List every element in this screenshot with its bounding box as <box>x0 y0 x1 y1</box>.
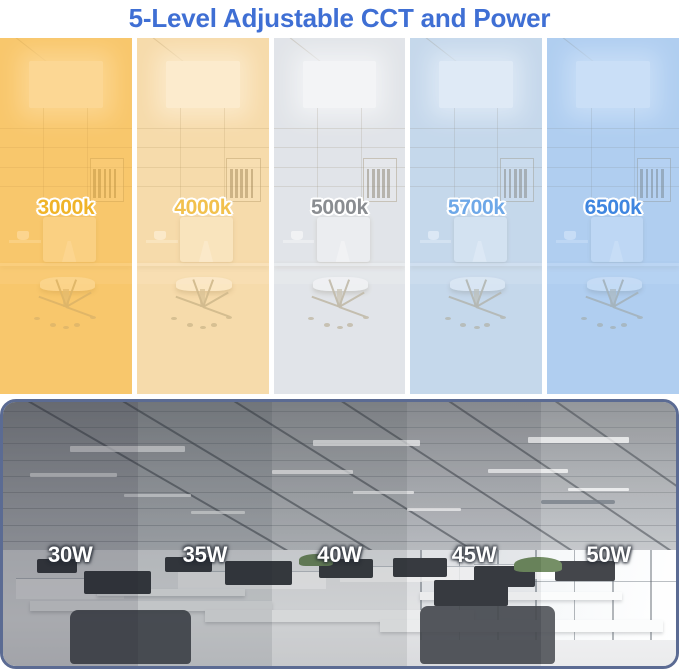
power-label-40w: 40W <box>272 542 407 568</box>
power-label-30w: 30W <box>3 542 138 568</box>
led-panel-light <box>576 61 650 108</box>
wall-shelf <box>9 240 41 243</box>
floor-area <box>0 284 132 394</box>
cct-label-6500k: 6500k <box>547 196 679 220</box>
led-panel-light <box>166 61 240 108</box>
led-panel-light <box>439 61 513 108</box>
power-label-35w: 35W <box>138 542 273 568</box>
cct-panel-4000k[interactable]: 4000k <box>137 38 269 394</box>
power-band-45w[interactable]: 45W <box>407 402 542 666</box>
power-band-30w[interactable]: 30W <box>3 402 138 666</box>
led-panel-light <box>303 61 377 108</box>
floor-area <box>410 284 542 394</box>
cct-comparison-strip: 3000k4000k5000k5700k6500k <box>0 38 679 394</box>
cct-panel-5000k[interactable]: 5000k <box>274 38 406 394</box>
power-band-50w[interactable]: 50W <box>541 402 676 666</box>
ceiling-area <box>547 38 679 205</box>
wall-shelf <box>556 240 588 243</box>
coffee-cup <box>154 231 166 240</box>
coffee-cup <box>428 231 440 240</box>
wall-shelf <box>420 240 452 243</box>
page-title-bar: 5-Level Adjustable CCT and Power <box>0 0 679 36</box>
floor-area <box>274 284 406 394</box>
wall-shelf <box>146 240 178 243</box>
ceiling-area <box>410 38 542 205</box>
ceiling-area <box>137 38 269 205</box>
power-label-45w: 45W <box>407 542 542 568</box>
cct-label-5700k: 5700k <box>410 196 542 220</box>
ceiling-area <box>274 38 406 205</box>
power-band-row: 30W35W40W45W50W <box>3 402 676 666</box>
page-title: 5-Level Adjustable CCT and Power <box>129 3 551 34</box>
coffee-cup <box>564 231 576 240</box>
cct-panel-5700k[interactable]: 5700k <box>410 38 542 394</box>
coffee-cup <box>17 231 29 240</box>
cct-label-5000k: 5000k <box>274 196 406 220</box>
cct-label-4000k: 4000k <box>137 196 269 220</box>
floor-area <box>137 284 269 394</box>
ceiling-area <box>0 38 132 205</box>
cct-panel-3000k[interactable]: 3000k <box>0 38 132 394</box>
power-band-40w[interactable]: 40W <box>272 402 407 666</box>
cct-panel-6500k[interactable]: 6500k <box>547 38 679 394</box>
cct-label-3000k: 3000k <box>0 196 132 220</box>
led-panel-light <box>29 61 103 108</box>
power-comparison-panel: 30W35W40W45W50W <box>0 399 679 669</box>
coffee-cup <box>291 231 303 240</box>
floor-area <box>547 284 679 394</box>
power-band-35w[interactable]: 35W <box>138 402 273 666</box>
wall-shelf <box>283 240 315 243</box>
power-label-50w: 50W <box>541 542 676 568</box>
